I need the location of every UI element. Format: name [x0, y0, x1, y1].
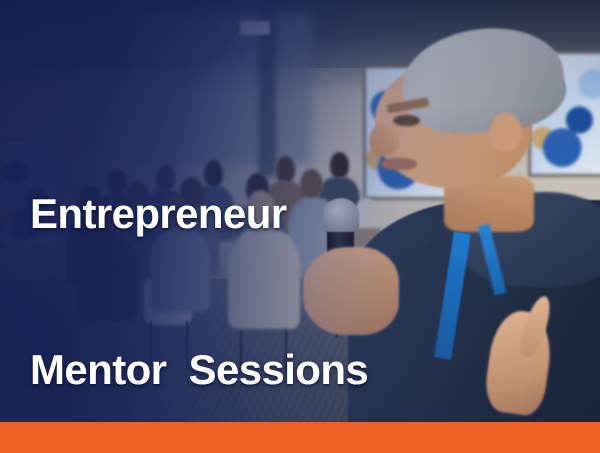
- headline-line-2: Mentor Sessions: [30, 344, 450, 396]
- page-title: Entrepreneur Mentor Sessions with Craig …: [30, 84, 450, 453]
- promo-banner: Entrepreneur Mentor Sessions with Craig …: [0, 0, 600, 453]
- headline-line-1: Entrepreneur: [30, 188, 450, 240]
- orange-accent-bar: [0, 422, 600, 453]
